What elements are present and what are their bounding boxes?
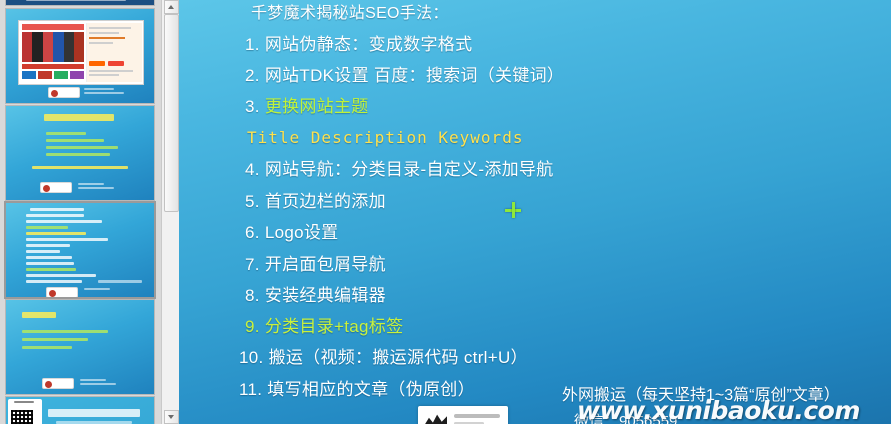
- slide-line-1: 1. 网站伪静态：变成数字格式: [245, 36, 472, 53]
- slide-line-2-text: 网站TDK设置 百度：搜索词（关键词）: [265, 66, 564, 85]
- slide-line-6: 6. Logo设置: [245, 224, 338, 241]
- slide-line-9: 9. 分类目录+tag标签: [245, 318, 403, 335]
- thumbnail-slide-qr-plan[interactable]: [6, 397, 154, 424]
- slide-line-11-text: 填写相应的文章（伪原创）: [267, 380, 475, 399]
- scroll-down-arrow[interactable]: [164, 410, 179, 424]
- slide-line-3: 3. 更换网站主题: [245, 98, 369, 115]
- slide-title: 千梦魔术揭秘站SEO手法：: [251, 6, 449, 22]
- slide-line-4-number: 4.: [245, 160, 265, 179]
- slide-line-8: 8. 安装经典编辑器: [245, 287, 386, 304]
- slide-line-9-number: 9.: [245, 317, 265, 336]
- slide-thumbnail-pane[interactable]: [0, 0, 161, 424]
- thumbnail-slide-three-points[interactable]: [6, 300, 154, 394]
- slide-line-5: 5. 首页边栏的添加: [245, 193, 386, 210]
- scroll-up-arrow[interactable]: [164, 0, 179, 14]
- slide-line-2-number: 2.: [245, 66, 265, 85]
- slide-line-11: 11. 填写相应的文章（伪原创）: [239, 381, 475, 398]
- slide-line-5-text: 首页边栏的添加: [265, 192, 386, 211]
- slide-line-7: 7. 开启面包屑导航: [245, 256, 386, 273]
- slide-line-7-text: 开启面包屑导航: [265, 255, 386, 274]
- slide-content: 千梦魔术揭秘站SEO手法： 1. 网站伪静态：变成数字格式 2. 网站TDK设置…: [179, 0, 891, 424]
- slide-line-10: 10. 搬运（视频：搬运源代码 ctrl+U）: [239, 349, 528, 366]
- thumbnail-slide-yellow-title-list[interactable]: [6, 106, 154, 200]
- brand-mark-icon: [425, 413, 447, 424]
- green-plus-cursor-icon[interactable]: [505, 202, 521, 218]
- thumbnail-vertical-scrollbar[interactable]: [161, 0, 181, 424]
- slide-line-1-text: 网站伪静态：变成数字格式: [265, 35, 473, 54]
- thumbnail-slide-website-screenshot[interactable]: [6, 9, 154, 103]
- slide-canvas[interactable]: 千梦魔术揭秘站SEO手法： 1. 网站伪静态：变成数字格式 2. 网站TDK设置…: [179, 0, 891, 424]
- thumbnail-slide-seo-steps[interactable]: [6, 203, 154, 297]
- slide-line-4: 4. 网站导航：分类目录-自定义-添加导航: [245, 161, 554, 178]
- slide-line-1-number: 1.: [245, 35, 265, 54]
- ppt-viewer-window: 千梦魔术揭秘站SEO手法： 1. 网站伪静态：变成数字格式 2. 网站TDK设置…: [0, 0, 891, 424]
- slide-line-tdk-keywords: Title Description Keywords: [247, 130, 523, 146]
- brand-text-line-1: [454, 414, 500, 418]
- slide-line-5-number: 5.: [245, 192, 265, 211]
- slide-line-11-number: 11.: [239, 380, 267, 399]
- slide-line-6-text: Logo设置: [265, 223, 339, 242]
- scrollbar-thumb[interactable]: [164, 14, 179, 212]
- slide-line-10-text: 搬运（视频：搬运源代码 ctrl+U）: [269, 348, 528, 367]
- thumbnail-scroll-area[interactable]: [0, 0, 161, 424]
- site-watermark: www.xunibaoku.com: [577, 396, 860, 424]
- slide-line-4-text: 网站导航：分类目录-自定义-添加导航: [265, 160, 554, 179]
- slide-line-10-number: 10.: [239, 348, 269, 367]
- slide-line-7-number: 7.: [245, 255, 265, 274]
- slide-line-9-text: 分类目录+tag标签: [265, 317, 404, 336]
- slide-line-6-number: 6.: [245, 223, 265, 242]
- slide-line-3-number: 3.: [245, 97, 265, 116]
- slide-line-8-number: 8.: [245, 286, 265, 305]
- slide-line-2: 2. 网站TDK设置 百度：搜索词（关键词）: [245, 67, 564, 84]
- slide-line-8-text: 安装经典编辑器: [265, 286, 386, 305]
- qianmeng-brand-logo: [418, 406, 508, 424]
- slide-line-3-text: 更换网站主题: [265, 97, 369, 116]
- thumbnail-slide-partial-top[interactable]: [6, 0, 154, 5]
